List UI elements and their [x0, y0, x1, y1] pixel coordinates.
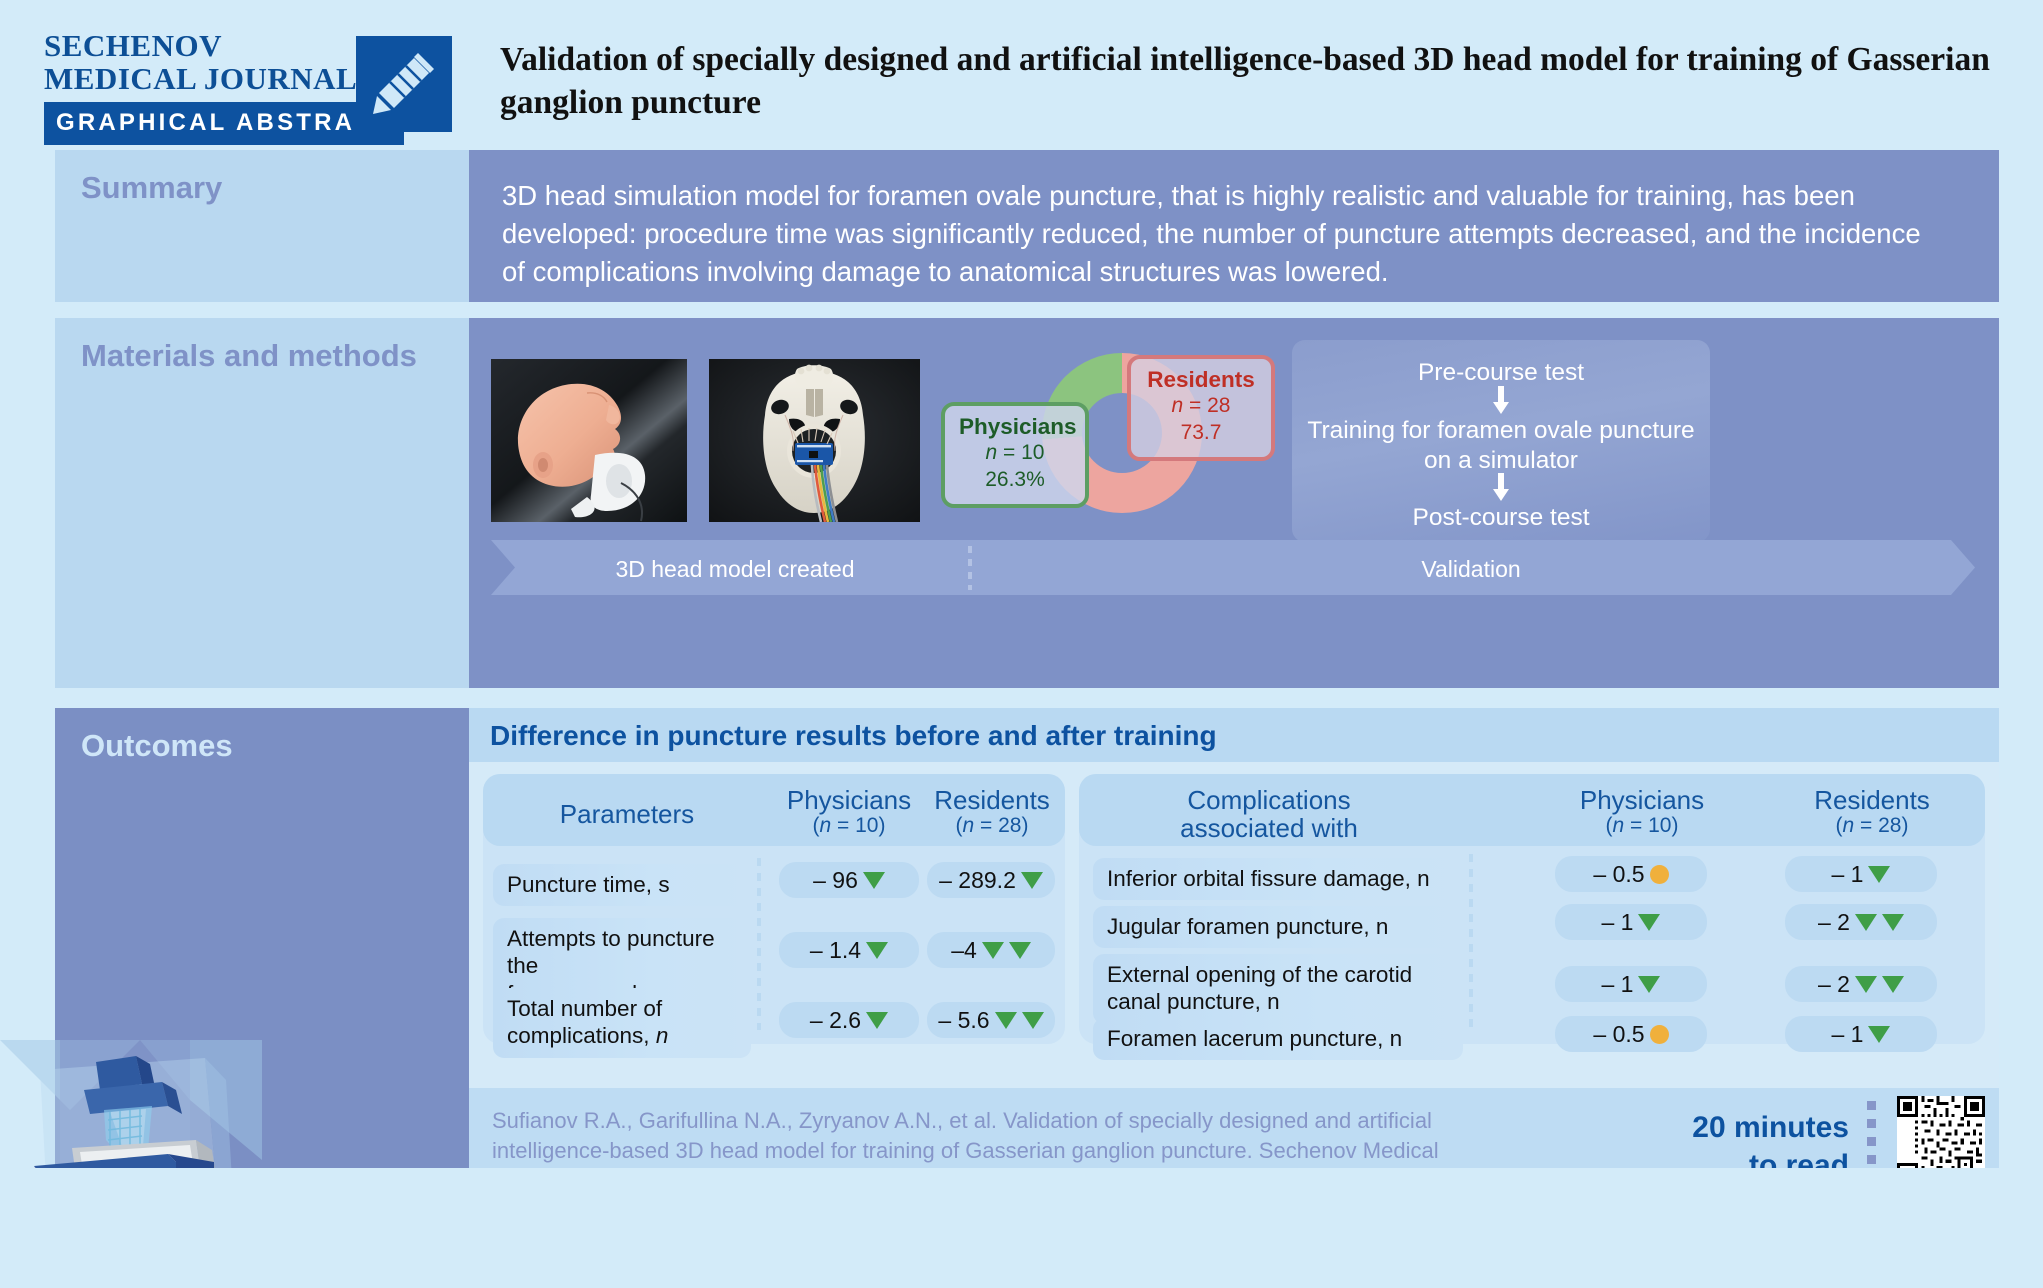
triangle-down-icon: [1868, 1026, 1890, 1043]
triangle-down-icon: [1855, 976, 1877, 993]
value: – 1: [1602, 909, 1634, 936]
value: – 2.6: [810, 1007, 861, 1034]
value: – 1: [1832, 861, 1864, 888]
table-left-header-residents: Residents: [923, 786, 1061, 815]
cell-residents-foramen-lacerum: – 1: [1785, 1016, 1937, 1052]
circle-marker-icon: [1650, 1025, 1669, 1044]
callout-physicians-percent: 26.3%: [959, 467, 1071, 493]
flow-step-training: Training for foramen ovale puncture on a…: [1292, 416, 1710, 477]
cell-residents-puncture-time: – 289.2: [927, 862, 1055, 898]
process-ribbon: 3D head model created Validation: [491, 540, 1975, 595]
callout-physicians-title: Physicians: [959, 415, 1071, 440]
callout-physicians: Physicians n = 10 26.3%: [941, 402, 1089, 508]
triangle-down-icon: [1022, 1012, 1044, 1029]
photo-3d-head-model-svg: [491, 359, 687, 522]
triangle-down-icon: [982, 942, 1004, 959]
cell-residents-jugular-foramen: – 2: [1785, 904, 1937, 940]
triangle-down-icon: [1021, 872, 1043, 889]
section-summary-label-panel: Summary: [55, 150, 469, 302]
triangle-down-icon: [1882, 976, 1904, 993]
cell-physicians-attempts: – 1.4: [779, 932, 919, 968]
section-materials-and-methods: Materials and methods: [55, 318, 1999, 688]
graphical-abstract-page: SECHENOV MEDICAL JOURNAL GRAPHICAL ABSTR…: [0, 0, 2043, 1288]
value: – 289.2: [939, 867, 1016, 894]
row-label-inferior-orbital-fissure: Inferior orbital fissure damage, n: [1093, 858, 1463, 900]
page-bottom-band: [0, 1168, 2043, 1288]
section-materials-body: Physicians n = 10 26.3% Residents n = 28…: [469, 318, 1999, 688]
section-outcomes-label: Outcomes: [81, 728, 233, 764]
row-label-carotid-canal: External opening of the carotidcanal pun…: [1093, 954, 1463, 1024]
table-left-column-divider: [757, 858, 761, 1030]
value: –4: [951, 937, 977, 964]
row-label-foramen-lacerum: Foramen lacerum puncture, n: [1093, 1018, 1463, 1060]
cell-residents-carotid-canal: – 2: [1785, 966, 1937, 1002]
value: – 1.4: [810, 937, 861, 964]
value: – 5.6: [938, 1007, 989, 1034]
summary-text: 3D head simulation model for foramen ova…: [502, 177, 1946, 292]
triangle-down-icon: [995, 1012, 1017, 1029]
triangle-down-icon: [1638, 914, 1660, 931]
value: – 2: [1818, 971, 1850, 998]
callout-residents-title: Residents: [1145, 368, 1257, 393]
flow-step-pre-course-test: Pre-course test: [1292, 358, 1710, 388]
callout-physicians-n: n = 10: [959, 440, 1071, 467]
row-label-jugular-foramen: Jugular foramen puncture, n: [1093, 906, 1463, 948]
participants-donut-chart: Physicians n = 10 26.3% Residents n = 28…: [939, 345, 1279, 535]
outcomes-header-bar: Difference in puncture results before an…: [469, 708, 1999, 762]
value: – 1: [1602, 971, 1634, 998]
graphical-abstract-badge: GRAPHICAL ABSTRACT: [44, 102, 404, 145]
table-right-header-residents-n: (n = 28): [1779, 814, 1965, 838]
section-materials-label: Materials and methods: [81, 338, 417, 374]
arrow-down-icon: [1490, 386, 1512, 414]
cell-physicians-foramen-lacerum: – 0.5: [1555, 1016, 1707, 1052]
triangle-down-icon: [1855, 914, 1877, 931]
value: – 96: [813, 867, 858, 894]
triangle-down-icon: [1009, 942, 1031, 959]
photo-skull-base-svg: [709, 359, 920, 522]
section-outcomes: Outcomes Difference in puncture results …: [55, 708, 1999, 1168]
table-right-header-complications-line2: associated with: [1099, 814, 1439, 843]
section-summary: Summary 3D head simulation model for for…: [55, 150, 1999, 302]
outcomes-header-title: Difference in puncture results before an…: [490, 720, 1217, 752]
callout-residents: Residents n = 28 73.7: [1127, 355, 1275, 461]
table-complications: Complications associated with Physicians…: [1079, 774, 1985, 1044]
triangle-down-icon: [866, 942, 888, 959]
header: SECHENOV MEDICAL JOURNAL GRAPHICAL ABSTR…: [0, 0, 2043, 150]
cell-residents-attempts: –4: [927, 932, 1055, 968]
section-summary-body: 3D head simulation model for foramen ova…: [469, 150, 1999, 302]
table-right-header-residents: Residents: [1779, 786, 1965, 815]
triangle-down-icon: [1868, 866, 1890, 883]
ribbon-label-model-created: 3D head model created: [515, 556, 955, 583]
pencil-icon: [356, 36, 452, 132]
cell-physicians-inferior-orbital-fissure: – 0.5: [1555, 856, 1707, 892]
value: – 0.5: [1593, 861, 1644, 888]
value: – 1: [1832, 1021, 1864, 1048]
callout-residents-n-value: 28: [1207, 394, 1230, 417]
table-left-header-residents-n: (n = 28): [923, 814, 1061, 838]
section-summary-label: Summary: [81, 170, 222, 206]
callout-physicians-n-value: 10: [1021, 441, 1044, 464]
read-time-line1: 20 minutes: [1619, 1109, 1849, 1147]
cell-physicians-total-complications: – 2.6: [779, 1002, 919, 1038]
triangle-down-icon: [1638, 976, 1660, 993]
table-right-column-divider: [1469, 854, 1473, 1032]
table-left-header-physicians: Physicians: [775, 786, 923, 815]
photo-3d-head-model-on-headrest: [491, 359, 687, 522]
triangle-down-icon: [863, 872, 885, 889]
flow-step-post-course-test: Post-course test: [1292, 503, 1710, 533]
triangle-down-icon: [866, 1012, 888, 1029]
value: – 2: [1818, 909, 1850, 936]
ribbon-label-validation: Validation: [1011, 556, 1931, 583]
pencil-icon-glyph: [370, 49, 438, 117]
arrow-down-icon: [1490, 473, 1512, 501]
callout-residents-percent: 73.7: [1145, 420, 1257, 446]
table-left-header-physicians-n: (n = 10): [775, 814, 923, 838]
cell-physicians-puncture-time: – 96: [779, 862, 919, 898]
table-left-header-parameters: Parameters: [497, 800, 757, 829]
page-title: Validation of specially designed and art…: [500, 38, 2000, 124]
cell-residents-inferior-orbital-fissure: – 1: [1785, 856, 1937, 892]
study-flow-diagram: Pre-course test Training for foramen ova…: [1292, 340, 1710, 542]
table-puncture-results: Parameters Physicians (n = 10) Residents…: [483, 774, 1065, 1044]
photo-skull-base-with-sensor-board: [709, 359, 920, 522]
ribbon-divider: [968, 546, 972, 590]
value: – 0.5: [1593, 1021, 1644, 1048]
table-right-header-physicians: Physicians: [1549, 786, 1735, 815]
circle-marker-icon: [1650, 865, 1669, 884]
cell-physicians-carotid-canal: – 1: [1555, 966, 1707, 1002]
row-label-puncture-time: Puncture time, s: [493, 864, 751, 906]
row-label-total-complications: Total number ofcomplications, n: [493, 988, 751, 1058]
cell-physicians-jugular-foramen: – 1: [1555, 904, 1707, 940]
table-right-header-complications-line1: Complications: [1099, 786, 1439, 815]
section-materials-label-panel: Materials and methods: [55, 318, 469, 688]
callout-residents-n: n = 28: [1145, 393, 1257, 420]
triangle-down-icon: [1882, 914, 1904, 931]
table-right-header-physicians-n: (n = 10): [1549, 814, 1735, 838]
cell-residents-total-complications: – 5.6: [927, 1002, 1055, 1038]
